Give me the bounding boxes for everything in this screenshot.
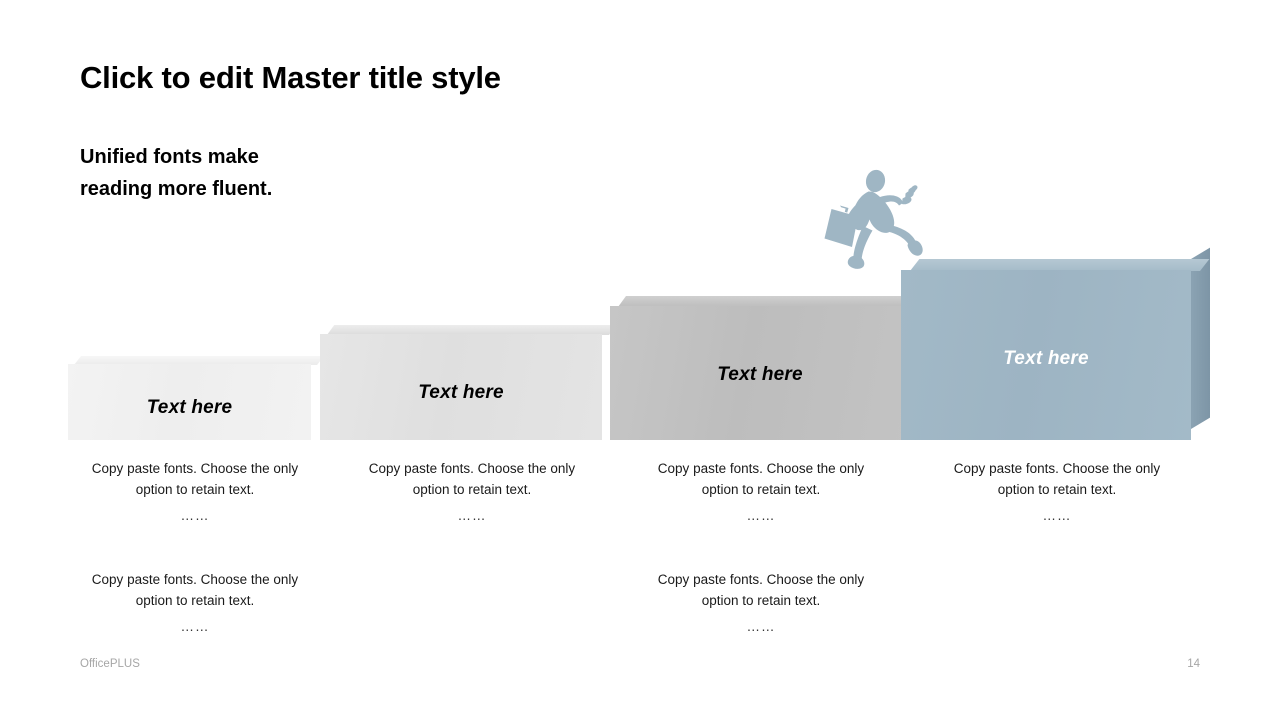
step-caption-3-text: Copy paste fonts. Choose the only option…	[658, 461, 864, 497]
step-secondary-caption-1-dots: ……	[75, 616, 315, 637]
step-bar-3-label[interactable]: Text here	[610, 364, 910, 386]
step-caption-3: Copy paste fonts. Choose the only option…	[641, 458, 881, 526]
footer-brand: OfficePLUS	[80, 658, 140, 670]
step-caption-4-text: Copy paste fonts. Choose the only option…	[954, 461, 1160, 497]
step-bar-4[interactable]: Text here	[901, 270, 1191, 440]
step-caption-4: Copy paste fonts. Choose the only option…	[937, 458, 1177, 526]
step-bar-2[interactable]: Text here	[320, 334, 602, 440]
step-secondary-caption-3: Copy paste fonts. Choose the only option…	[641, 569, 881, 637]
step-secondary-caption-1-text: Copy paste fonts. Choose the only option…	[92, 572, 298, 608]
step-secondary-caption-3-dots: ……	[641, 616, 881, 637]
step-caption-1-text: Copy paste fonts. Choose the only option…	[92, 461, 298, 497]
slide-subtitle[interactable]: Unified fonts make reading more fluent.	[80, 141, 272, 205]
step-bar-1[interactable]: Text here	[68, 364, 311, 440]
step-caption-1: Copy paste fonts. Choose the only option…	[75, 458, 315, 526]
step-caption-4-dots: ……	[937, 505, 1177, 526]
businessman-climbing-icon	[818, 168, 943, 274]
step-caption-2-dots: ……	[352, 505, 592, 526]
page-title[interactable]: Click to edit Master title style	[80, 60, 501, 96]
step-bar-2-label[interactable]: Text here	[320, 382, 602, 404]
step-secondary-caption-3-text: Copy paste fonts. Choose the only option…	[658, 572, 864, 608]
step-bar-4-label[interactable]: Text here	[901, 348, 1191, 370]
step-caption-2-text: Copy paste fonts. Choose the only option…	[369, 461, 575, 497]
step-caption-2: Copy paste fonts. Choose the only option…	[352, 458, 592, 526]
step-caption-1-dots: ……	[75, 505, 315, 526]
step-secondary-caption-1: Copy paste fonts. Choose the only option…	[75, 569, 315, 637]
footer-page-number: 14	[1187, 658, 1200, 670]
step-bar-1-label[interactable]: Text here	[68, 397, 311, 419]
slide-canvas: Click to edit Master title style Unified…	[0, 0, 1280, 720]
step-bar-4-side-face	[1191, 248, 1210, 429]
step-bar-3[interactable]: Text here	[610, 306, 910, 440]
step-caption-3-dots: ……	[641, 505, 881, 526]
